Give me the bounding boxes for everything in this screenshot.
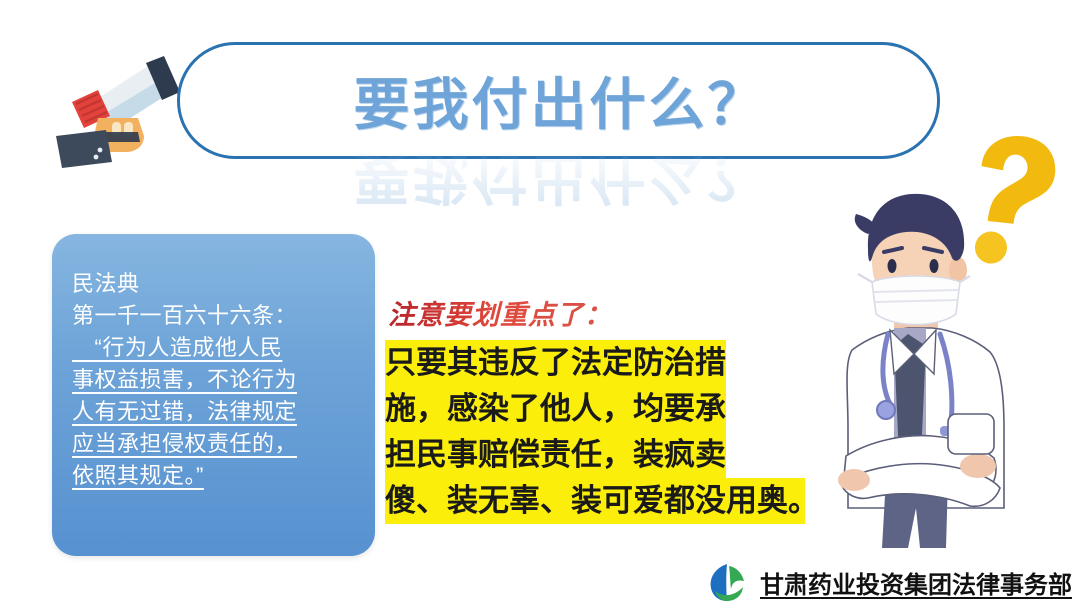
highlight-line-2: 施，感染了他人，均要承 (385, 386, 726, 432)
civil-code-quote-line-1: “行为人造成他人民 (72, 332, 359, 364)
slide-canvas: 要我付出什么？ 要我付出什么？ 民法典 第一千一百六十六条： “行为人造成他人民… (0, 0, 1080, 608)
company-logo-icon (706, 561, 748, 603)
highlight-line-1: 只要其违反了法定防治措 (385, 340, 726, 386)
page-title-reflection: 要我付出什么？ (300, 142, 820, 212)
highlight-paragraph: 只要其违反了法定防治措 施，感染了他人，均要承 担民事赔偿责任，装疯卖 傻、装无… (385, 340, 805, 524)
civil-code-quote-line-2: 事权益损害，不论行为 (72, 364, 359, 396)
highlight-line-3: 担民事赔偿责任，装疯卖 (385, 432, 726, 478)
doctor-illustration (828, 178, 1043, 558)
civil-code-card: 民法典 第一千一百六十六条： “行为人造成他人民 事权益损害，不论行为 人有无过… (52, 234, 375, 556)
civil-code-quote-line-3: 人有无过错，法律规定 (72, 396, 359, 428)
emphasis-headline: 注意要划重点了： (388, 293, 612, 332)
highlight-line-4: 傻、装无辜、装可爱都没用奥。 (385, 478, 805, 524)
civil-code-quote-line-5: 依照其规定。” (72, 460, 359, 492)
megaphone-icon (52, 44, 187, 169)
civil-code-source: 民法典 (72, 268, 359, 300)
civil-code-quote-line-4: 应当承担侵权责任的， (72, 428, 359, 460)
footer-branding: 甘肃药业投资集团法律事务部 (706, 560, 1072, 604)
civil-code-article: 第一千一百六十六条： (72, 300, 359, 332)
page-title: 要我付出什么？ (300, 70, 820, 140)
footer-organization: 甘肃药业投资集团法律事务部 (760, 565, 1072, 600)
